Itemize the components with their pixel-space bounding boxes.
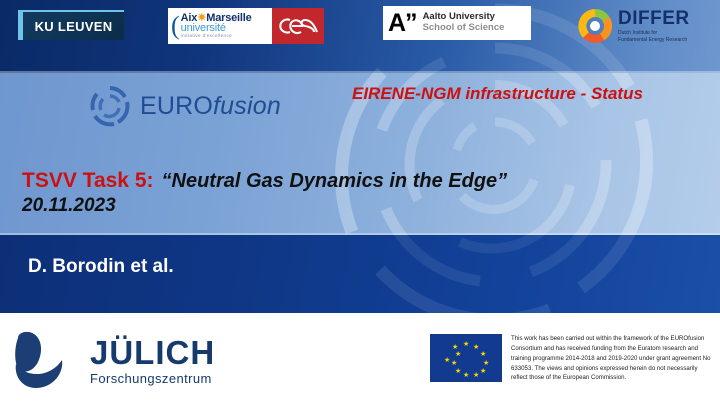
logo-aix-marseille-cea: ( Aix✷Marseille université initiative d'… (168, 8, 324, 44)
task-title-line: TSVV Task 5:“Neutral Gas Dynamics in the… (22, 168, 507, 194)
logo-cea (272, 8, 324, 44)
band-divider-bottom (0, 233, 720, 235)
task-label: TSVV Task 5: (22, 169, 154, 192)
task-title: “Neutral Gas Dynamics in the Edge” (162, 170, 508, 192)
author-line: D. Borodin et al. (28, 256, 174, 278)
aalto-mark-icon: A” (388, 11, 417, 36)
differ-subtitle-line2: Fundamental Energy Research (618, 37, 690, 44)
cea-wordmark-icon (276, 15, 320, 37)
eurofusion-prefix: EURO (140, 92, 213, 120)
eurofusion-ring-icon (88, 84, 132, 128)
logo-eurofusion: EUROfusion (88, 84, 281, 128)
eurofusion-suffix: fusion (213, 92, 281, 120)
juelich-subtitle: Forschungszentrum (90, 371, 215, 386)
eurofusion-wordmark: EUROfusion (140, 92, 281, 121)
aalto-line2: School of Science (423, 23, 505, 34)
differ-subtitle-line1: Dutch Institute for (618, 30, 690, 37)
differ-ring-icon (578, 9, 612, 43)
eu-flag-icon: ★ ★ ★ ★ ★ ★ ★ ★ ★ ★ ★ ★ (430, 334, 502, 382)
logo-differ: DIFFER Dutch Institute for Fundamental E… (578, 6, 710, 46)
juelich-swoosh-icon (12, 330, 80, 392)
ku-leuven-label: KU LEUVEN (35, 19, 113, 34)
logo-aalto-university: A” Aalto University School of Science (383, 6, 531, 40)
band-divider-top (0, 71, 720, 73)
amu-paren-glyph: ( (171, 13, 180, 39)
presentation-title-slide: KU LEUVEN ( Aix✷Marseille université ini… (0, 0, 720, 405)
differ-wordmark: DIFFER (618, 9, 690, 28)
eu-funding-disclaimer: This work has been carried out within th… (511, 334, 711, 383)
status-title: EIRENE-NGM infrastructure - Status (352, 84, 643, 104)
logo-ku-leuven: KU LEUVEN (18, 10, 124, 40)
presentation-date: 20.11.2023 (22, 194, 507, 217)
eu-funding-block: ★ ★ ★ ★ ★ ★ ★ ★ ★ ★ ★ ★ This work has be… (430, 334, 711, 383)
logo-juelich: JÜLICH Forschungszentrum (12, 330, 215, 392)
logo-aix-marseille: ( Aix✷Marseille université initiative d'… (168, 8, 272, 44)
amu-line3: initiative d'excellence (181, 34, 252, 39)
juelich-wordmark: JÜLICH (90, 336, 215, 369)
differ-subtitle: Dutch Institute for Fundamental Energy R… (618, 30, 690, 44)
task-title-block: TSVV Task 5:“Neutral Gas Dynamics in the… (22, 168, 507, 217)
